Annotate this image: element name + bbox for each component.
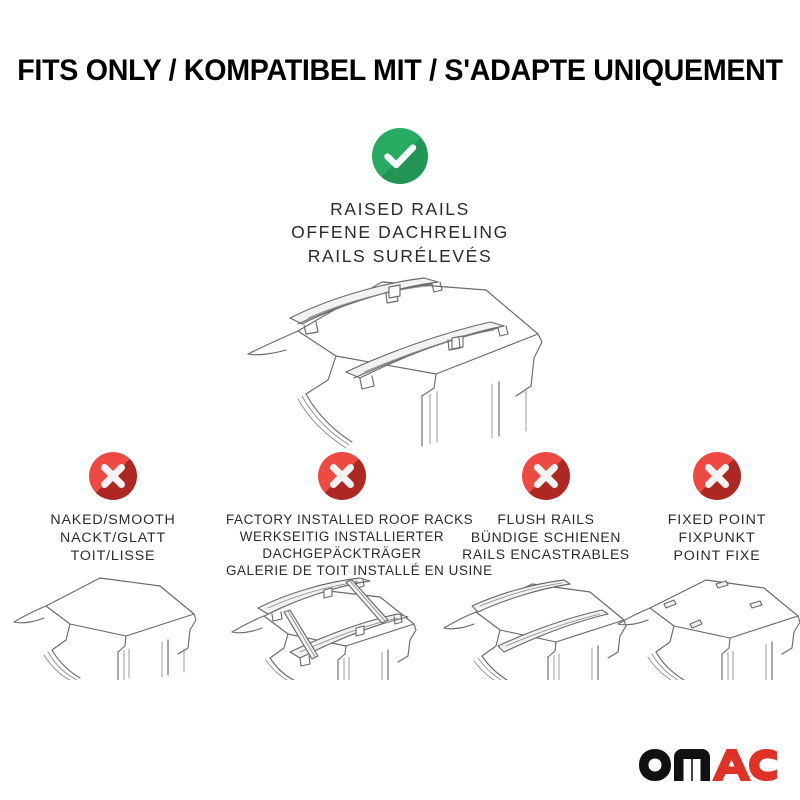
omac-logo: [638, 748, 778, 782]
incompatible-illustrations: [0, 452, 800, 692]
compatible-labels: RAISED RAILS OFFENE DACHRELING RAILS SUR…: [0, 198, 800, 268]
compatible-label-de: OFFENE DACHRELING: [0, 221, 800, 244]
compatible-label-en: RAISED RAILS: [0, 198, 800, 221]
factory-crossbars-illustration: [228, 570, 438, 680]
flush-rails-illustration: [440, 570, 636, 680]
fixed-points-illustration: [616, 570, 800, 680]
compatible-label-fr: RAILS SURÉLEVÉS: [0, 245, 800, 268]
raised-rails-illustration: [186, 276, 626, 456]
bare-roof-illustration: [8, 570, 208, 680]
check-circle-icon: [372, 128, 428, 184]
compatible-section: RAISED RAILS OFFENE DACHRELING RAILS SUR…: [0, 128, 800, 268]
page-title: FITS ONLY / KOMPATIBEL MIT / S'ADAPTE UN…: [12, 54, 788, 88]
